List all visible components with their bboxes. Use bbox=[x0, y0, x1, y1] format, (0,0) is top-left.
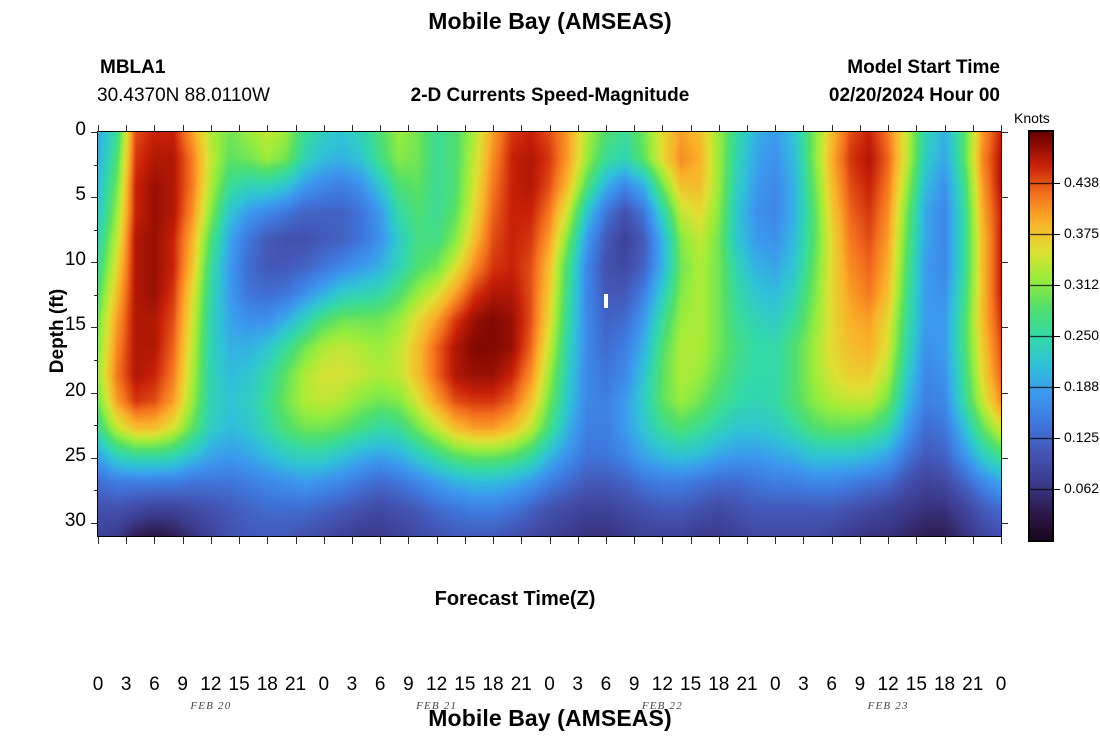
y-minor-tick bbox=[94, 295, 98, 296]
x-tick bbox=[916, 537, 917, 544]
x-tick bbox=[352, 537, 353, 544]
x-tick bbox=[296, 537, 297, 544]
x-tick bbox=[578, 537, 579, 544]
colorbar-tick-label: 0.188 bbox=[1064, 378, 1099, 394]
y-tick bbox=[91, 197, 98, 198]
x-tick bbox=[267, 125, 268, 132]
colorbar-tick-label: 0.250 bbox=[1064, 327, 1099, 343]
y-tick bbox=[1001, 458, 1008, 459]
x-tick bbox=[747, 125, 748, 132]
x-tick bbox=[973, 125, 974, 132]
station-id: MBLA1 bbox=[100, 57, 165, 79]
x-tick bbox=[267, 537, 268, 544]
colorbar-tick bbox=[1052, 489, 1060, 490]
x-tick bbox=[860, 125, 861, 132]
x-tick bbox=[634, 537, 635, 544]
x-tick bbox=[408, 537, 409, 544]
x-tick bbox=[239, 537, 240, 544]
x-tick bbox=[888, 125, 889, 132]
x-tick bbox=[832, 125, 833, 132]
x-tick bbox=[211, 537, 212, 544]
x-tick bbox=[324, 537, 325, 544]
y-tick-label: 25 bbox=[26, 445, 86, 467]
x-tick bbox=[634, 125, 635, 132]
colorbar-tick bbox=[1052, 336, 1060, 337]
x-tick bbox=[550, 125, 551, 132]
y-tick bbox=[1001, 393, 1008, 394]
y-minor-tick bbox=[94, 165, 98, 166]
y-tick bbox=[1001, 523, 1008, 524]
x-tick bbox=[324, 125, 325, 132]
x-tick bbox=[606, 125, 607, 132]
x-tick bbox=[521, 537, 522, 544]
y-minor-tick bbox=[94, 360, 98, 361]
x-tick bbox=[803, 125, 804, 132]
y-tick bbox=[91, 262, 98, 263]
x-tick bbox=[154, 125, 155, 132]
colorbar-canvas bbox=[1030, 132, 1052, 540]
y-tick bbox=[1001, 327, 1008, 328]
y-minor-tick bbox=[94, 490, 98, 491]
x-tick bbox=[126, 537, 127, 544]
colorbar-tick-label: 0.125 bbox=[1064, 429, 1099, 445]
heatmap-canvas bbox=[98, 132, 1001, 536]
bottom-title: Mobile Bay (AMSEAS) bbox=[0, 705, 1100, 732]
y-axis-title: Depth (ft) bbox=[47, 251, 69, 411]
y-tick-label: 30 bbox=[26, 510, 86, 532]
x-tick bbox=[550, 537, 551, 544]
x-tick bbox=[98, 537, 99, 544]
x-tick bbox=[154, 537, 155, 544]
colorbar-tick-label: 0.312 bbox=[1064, 276, 1099, 292]
colorbar-tick bbox=[1052, 387, 1060, 388]
y-minor-tick bbox=[94, 425, 98, 426]
x-tick bbox=[98, 125, 99, 132]
colorbar-units-label: Knots bbox=[1014, 110, 1050, 126]
x-tick bbox=[465, 537, 466, 544]
x-tick bbox=[126, 125, 127, 132]
colorbar-tick bbox=[1052, 234, 1060, 235]
y-tick-label: 5 bbox=[26, 184, 86, 206]
x-tick bbox=[1001, 537, 1002, 544]
x-axis-title: Forecast Time(Z) bbox=[0, 588, 1030, 611]
colorbar-tick bbox=[1052, 438, 1060, 439]
y-tick-label: 0 bbox=[26, 119, 86, 141]
colorbar: 0.4380.3750.3120.2500.1880.1250.062 bbox=[1028, 130, 1054, 542]
x-tick bbox=[888, 537, 889, 544]
y-tick bbox=[91, 327, 98, 328]
x-tick bbox=[183, 537, 184, 544]
x-tick bbox=[662, 125, 663, 132]
x-tick bbox=[973, 537, 974, 544]
colorbar-tick bbox=[1052, 183, 1060, 184]
x-tick bbox=[437, 125, 438, 132]
x-tick bbox=[691, 537, 692, 544]
y-tick bbox=[91, 132, 98, 133]
x-tick bbox=[945, 125, 946, 132]
x-tick bbox=[1001, 125, 1002, 132]
x-tick bbox=[493, 537, 494, 544]
model-start-time-label: Model Start Time bbox=[600, 57, 1000, 79]
y-tick bbox=[1001, 132, 1008, 133]
colorbar-tick-label: 0.375 bbox=[1064, 225, 1099, 241]
x-tick bbox=[493, 125, 494, 132]
x-tick bbox=[239, 125, 240, 132]
heatmap-plot-area: 0369121518210369121518210369121518210369… bbox=[97, 131, 1002, 537]
x-tick bbox=[860, 537, 861, 544]
x-tick bbox=[211, 125, 212, 132]
cursor-marker bbox=[604, 294, 608, 308]
x-tick bbox=[691, 125, 692, 132]
x-tick bbox=[296, 125, 297, 132]
x-tick bbox=[437, 537, 438, 544]
x-tick bbox=[832, 537, 833, 544]
y-tick bbox=[1001, 197, 1008, 198]
x-tick bbox=[408, 125, 409, 132]
colorbar-tick bbox=[1052, 285, 1060, 286]
page-title: Mobile Bay (AMSEAS) bbox=[0, 8, 1100, 35]
x-tick bbox=[719, 125, 720, 132]
x-tick bbox=[945, 537, 946, 544]
y-tick bbox=[91, 393, 98, 394]
y-tick bbox=[91, 458, 98, 459]
y-tick bbox=[1001, 262, 1008, 263]
x-tick bbox=[380, 537, 381, 544]
x-tick bbox=[606, 537, 607, 544]
x-tick bbox=[775, 125, 776, 132]
colorbar-tick-label: 0.062 bbox=[1064, 480, 1099, 496]
x-tick bbox=[521, 125, 522, 132]
y-minor-tick bbox=[94, 230, 98, 231]
x-tick bbox=[775, 537, 776, 544]
x-tick bbox=[578, 125, 579, 132]
x-tick bbox=[183, 125, 184, 132]
model-start-time-value: 02/20/2024 Hour 00 bbox=[600, 85, 1000, 107]
y-tick bbox=[91, 523, 98, 524]
x-tick bbox=[380, 125, 381, 132]
x-tick bbox=[747, 537, 748, 544]
x-tick bbox=[662, 537, 663, 544]
x-tick bbox=[803, 537, 804, 544]
x-tick bbox=[916, 125, 917, 132]
x-tick-label: 0 bbox=[981, 674, 1021, 696]
colorbar-tick-label: 0.438 bbox=[1064, 174, 1099, 190]
x-tick bbox=[465, 125, 466, 132]
x-tick bbox=[352, 125, 353, 132]
x-tick bbox=[719, 537, 720, 544]
